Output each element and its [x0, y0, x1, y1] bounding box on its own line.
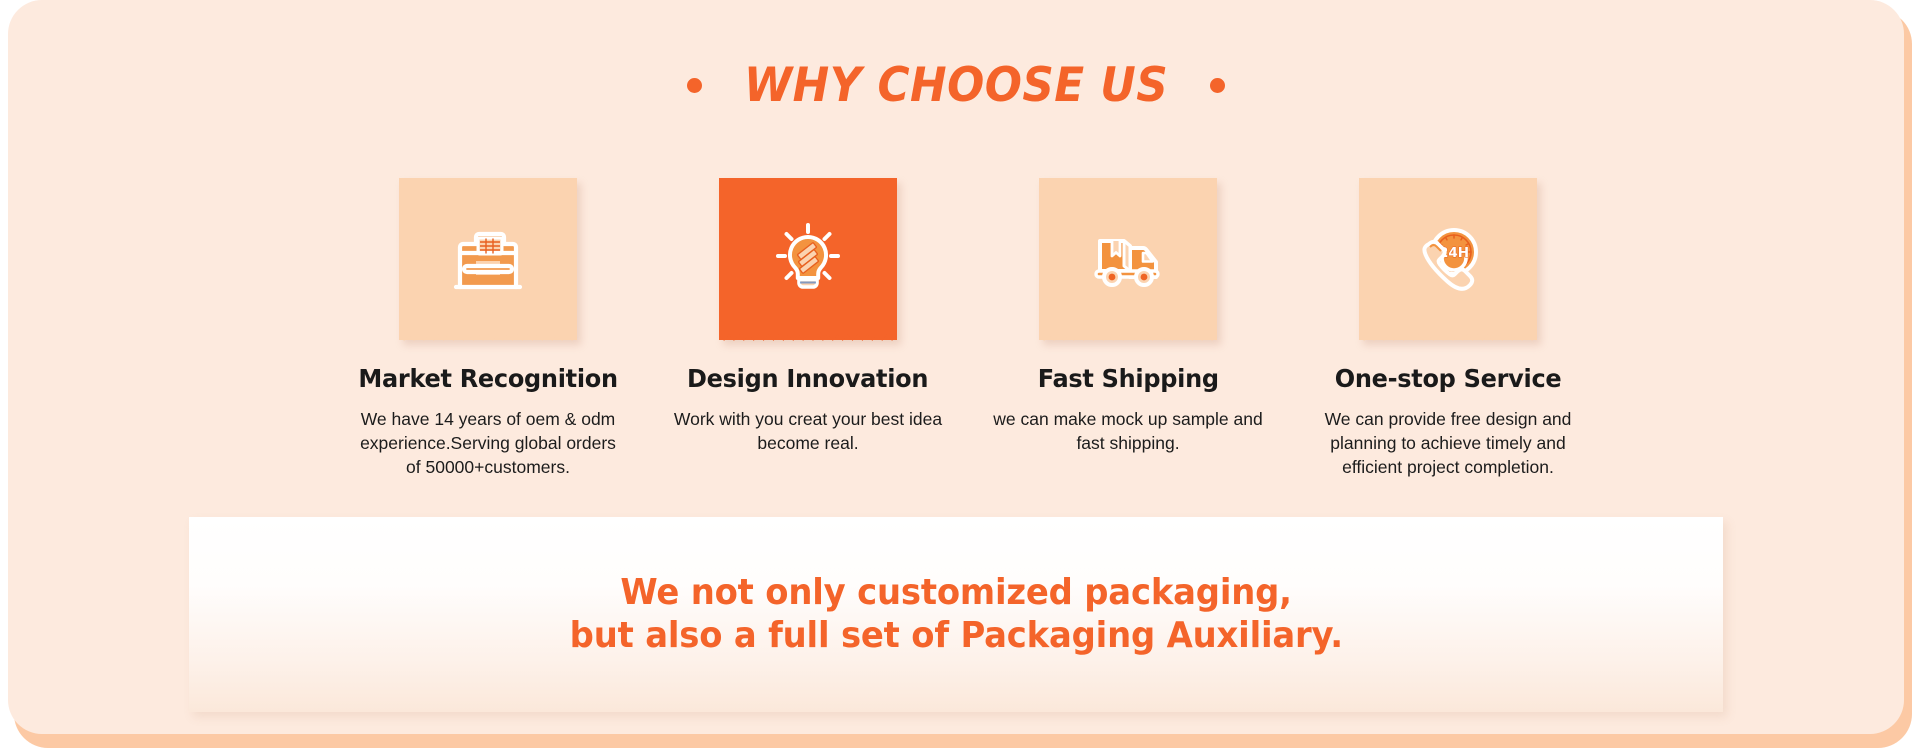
feature-title: Fast Shipping [1038, 364, 1219, 393]
why-choose-us-section: WHY CHOOSE US [0, 0, 1920, 750]
stamp-frame [1039, 178, 1217, 348]
feature-title: One-stop Service [1335, 364, 1562, 393]
feature-card-one-stop-service[interactable]: 24H One-stop Service We can provide free… [1358, 178, 1538, 479]
feature-description: Work with you creat your best idea becom… [673, 407, 943, 455]
phone-24h-support-icon: 24H [1406, 217, 1490, 301]
feature-card-list: Market Recognition We have 14 years of o… [398, 178, 1538, 479]
feature-description: We have 14 years of oem & odm experience… [353, 407, 623, 479]
stamp-frame [399, 178, 577, 348]
stamp-sawtooth-edge [1039, 332, 1217, 343]
heading-dot-right-icon [1210, 78, 1225, 93]
feature-card-design-innovation[interactable]: Design Innovation Work with you creat yo… [718, 178, 898, 479]
content-panel: WHY CHOOSE US [8, 0, 1904, 734]
stamp-sawtooth-edge [399, 332, 577, 343]
stamp-frame [719, 178, 897, 348]
factory-icon [446, 217, 530, 301]
feature-title: Design Innovation [687, 364, 928, 393]
lightbulb-idea-icon [766, 217, 850, 301]
section-heading: WHY CHOOSE US [8, 62, 1904, 109]
feature-card-fast-shipping[interactable]: Fast Shipping we can make mock up sample… [1038, 178, 1218, 479]
heading-dot-left-icon [687, 78, 702, 93]
promo-banner: We not only customized packaging, but al… [189, 517, 1723, 712]
feature-title: Market Recognition [358, 364, 617, 393]
stamp-sawtooth-edge [1359, 332, 1537, 343]
stamp-sawtooth-edge [719, 332, 897, 343]
feature-description: We can provide free design and planning … [1313, 407, 1583, 479]
promo-banner-line-1: We not only customized packaging, [620, 572, 1291, 614]
page-title: WHY CHOOSE US [744, 62, 1168, 109]
promo-banner-line-2: but also a full set of Packaging Auxilia… [569, 615, 1342, 657]
stamp-frame: 24H [1359, 178, 1537, 348]
feature-description: we can make mock up sample and fast ship… [993, 407, 1263, 455]
delivery-truck-icon [1086, 217, 1170, 301]
feature-card-market-recognition[interactable]: Market Recognition We have 14 years of o… [398, 178, 578, 479]
